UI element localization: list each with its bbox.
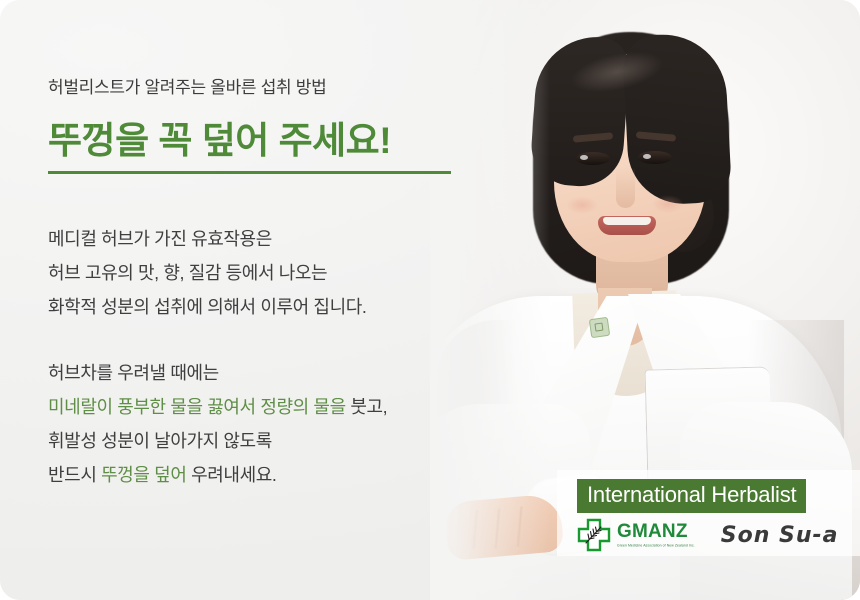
paragraph-one: 메디컬 허브가 가진 유효작용은허브 고유의 맛, 향, 질감 등에서 나오는화…: [48, 222, 366, 324]
cheek-right: [652, 195, 684, 213]
highlighted-phrase: 뚜껑을 덮어: [101, 465, 186, 485]
paragraph-line: 미네랄이 풍부한 물을 끓여서 정량의 물을 붓고,: [48, 390, 387, 424]
paragraph-line: 허브 고유의 맛, 향, 질감 등에서 나오는: [48, 256, 366, 290]
plain-phrase: 붓고,: [346, 397, 388, 417]
herbalist-name: Son Su-a: [721, 523, 839, 548]
eye-left: [576, 152, 610, 165]
eyebrow-text: 허벌리스트가 알려주는 올바른 섭취 방법: [48, 76, 326, 100]
gmanz-subtitle: Green Medicine Association of New Zealan…: [617, 543, 695, 549]
gmanz-wordmark: GMANZ: [617, 522, 695, 541]
badge-title: International Herbalist: [587, 482, 796, 507]
plain-phrase: 반드시: [48, 465, 101, 485]
plain-phrase: 메디컬 허브가 가진 유효작용은: [48, 229, 272, 249]
teeth: [603, 217, 651, 225]
cheek-left: [566, 196, 598, 214]
eye-highlight-right: [643, 154, 651, 159]
paragraph-line: 반드시 뚜껑을 덮어 우려내세요.: [48, 458, 387, 492]
paragraph-two: 허브차를 우려낼 때에는미네랄이 풍부한 물을 끓여서 정량의 물을 붓고,휘발…: [48, 356, 387, 492]
plain-phrase: 허브차를 우려낼 때에는: [48, 363, 219, 383]
badge-logo-row: GMANZ Green Medicine Association of New …: [577, 518, 839, 552]
plain-phrase: 화학적 성분의 섭취에 의해서 이루어 집니다.: [48, 297, 366, 317]
eye-right: [638, 151, 672, 164]
plain-phrase: 허브 고유의 맛, 향, 질감 등에서 나오는: [48, 263, 327, 283]
plain-phrase: 휘발성 성분이 날아가지 않도록: [48, 431, 272, 451]
paragraph-line: 휘발성 성분이 날아가지 않도록: [48, 424, 387, 458]
promo-card: 허벌리스트가 알려주는 올바른 섭취 방법 뚜껑을 꼭 덮어 주세요! 메디컬 …: [0, 0, 860, 600]
highlighted-phrase: 미네랄이 풍부한 물을 끓여서 정량의 물을: [48, 397, 346, 417]
eye-highlight-left: [580, 155, 588, 160]
lapel-pin-icon: [589, 317, 610, 338]
paragraph-line: 메디컬 허브가 가진 유효작용은: [48, 222, 366, 256]
text-column: 허벌리스트가 알려주는 올바른 섭취 방법 뚜껑을 꼭 덮어 주세요! 메디컬 …: [48, 0, 518, 600]
paragraph-line: 허브차를 우려낼 때에는: [48, 356, 387, 390]
title-underline-rule: [48, 171, 451, 174]
nose: [616, 168, 635, 208]
badge-title-bar: International Herbalist: [577, 479, 806, 513]
green-cross-fern-icon: [577, 518, 611, 552]
gmanz-logo: GMANZ Green Medicine Association of New …: [577, 518, 695, 552]
plain-phrase: 우려내세요.: [187, 465, 277, 485]
credential-badge: International Herbalist GMANZ Green: [557, 470, 860, 556]
page-title: 뚜껑을 꼭 덮어 주세요!: [48, 118, 391, 164]
paragraph-line: 화학적 성분의 섭취에 의해서 이루어 집니다.: [48, 290, 366, 324]
